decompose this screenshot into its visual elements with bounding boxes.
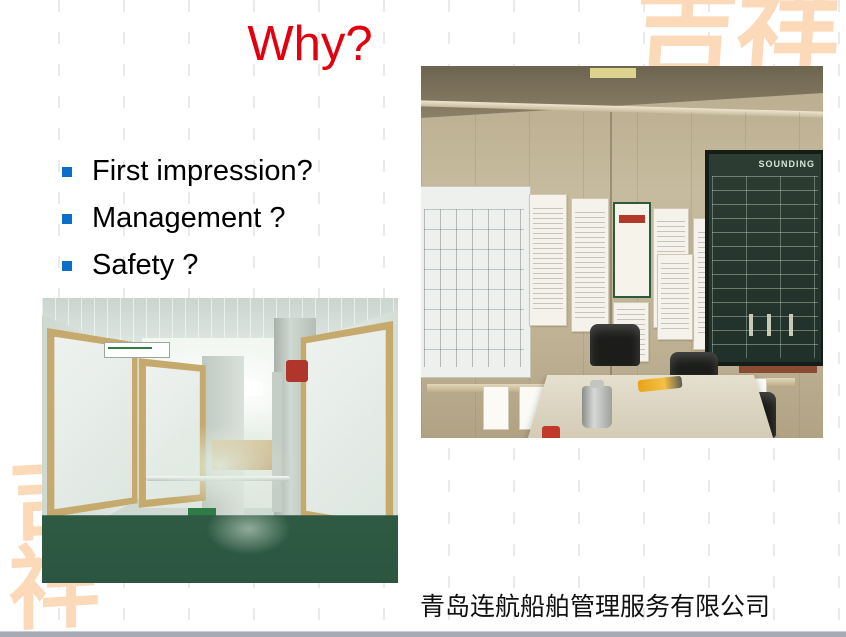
bullet-item-safety: Safety ? <box>62 242 442 289</box>
corridor-floor-reflection <box>149 423 291 509</box>
control-room-posted-document <box>529 194 567 326</box>
control-room-posted-document <box>571 198 609 332</box>
square-bullet-icon <box>62 214 72 224</box>
square-bullet-icon <box>62 167 72 177</box>
control-room-engine-plan <box>421 186 531 378</box>
control-room-key-rail <box>739 366 817 373</box>
presentation-slide: 吉祥 吉祥 Why? First impression? Management … <box>0 0 846 637</box>
sounding-board-title: SOUNDING <box>758 159 815 169</box>
control-room-ceiling-light <box>590 68 636 78</box>
corridor-framed-plan <box>301 321 393 533</box>
bullet-label: Safety ? <box>92 249 198 282</box>
control-room-chair <box>590 324 640 366</box>
bullet-item-management: Management ? <box>62 195 442 242</box>
corridor-scene <box>42 298 398 583</box>
corridor-floor-reflection <box>206 503 291 554</box>
control-room-hanging-tag <box>483 386 509 430</box>
corridor-exit-sign <box>104 342 170 358</box>
slide-bottom-bar <box>0 631 846 637</box>
control-room-key <box>767 314 771 336</box>
control-room-sounding-board: SOUNDING <box>705 150 823 366</box>
bullet-item-first-impression: First impression? <box>62 148 442 195</box>
control-room-posted-document <box>657 254 693 340</box>
photo-corridor <box>42 298 398 583</box>
control-room-notice <box>613 202 651 298</box>
bullet-label: Management ? <box>92 202 285 235</box>
bullet-list: First impression? Management ? Safety ? <box>62 148 442 289</box>
control-room-scene: SOUNDING <box>421 66 823 438</box>
sounding-board-grid <box>712 176 818 358</box>
control-room-wall-corner <box>610 112 612 412</box>
slide-title: Why? <box>0 16 620 72</box>
gridline <box>838 0 840 632</box>
corridor-fire-hydrant <box>286 360 308 382</box>
control-room-key <box>749 314 753 336</box>
control-room-red-cup <box>542 426 560 438</box>
square-bullet-icon <box>62 261 72 271</box>
control-room-kettle <box>582 386 612 428</box>
control-room-key <box>789 314 793 336</box>
photo-control-room: SOUNDING <box>421 66 823 438</box>
bullet-label: First impression? <box>92 155 313 188</box>
footer-company-name: 青岛连航船舶管理服务有限公司 <box>420 587 770 623</box>
